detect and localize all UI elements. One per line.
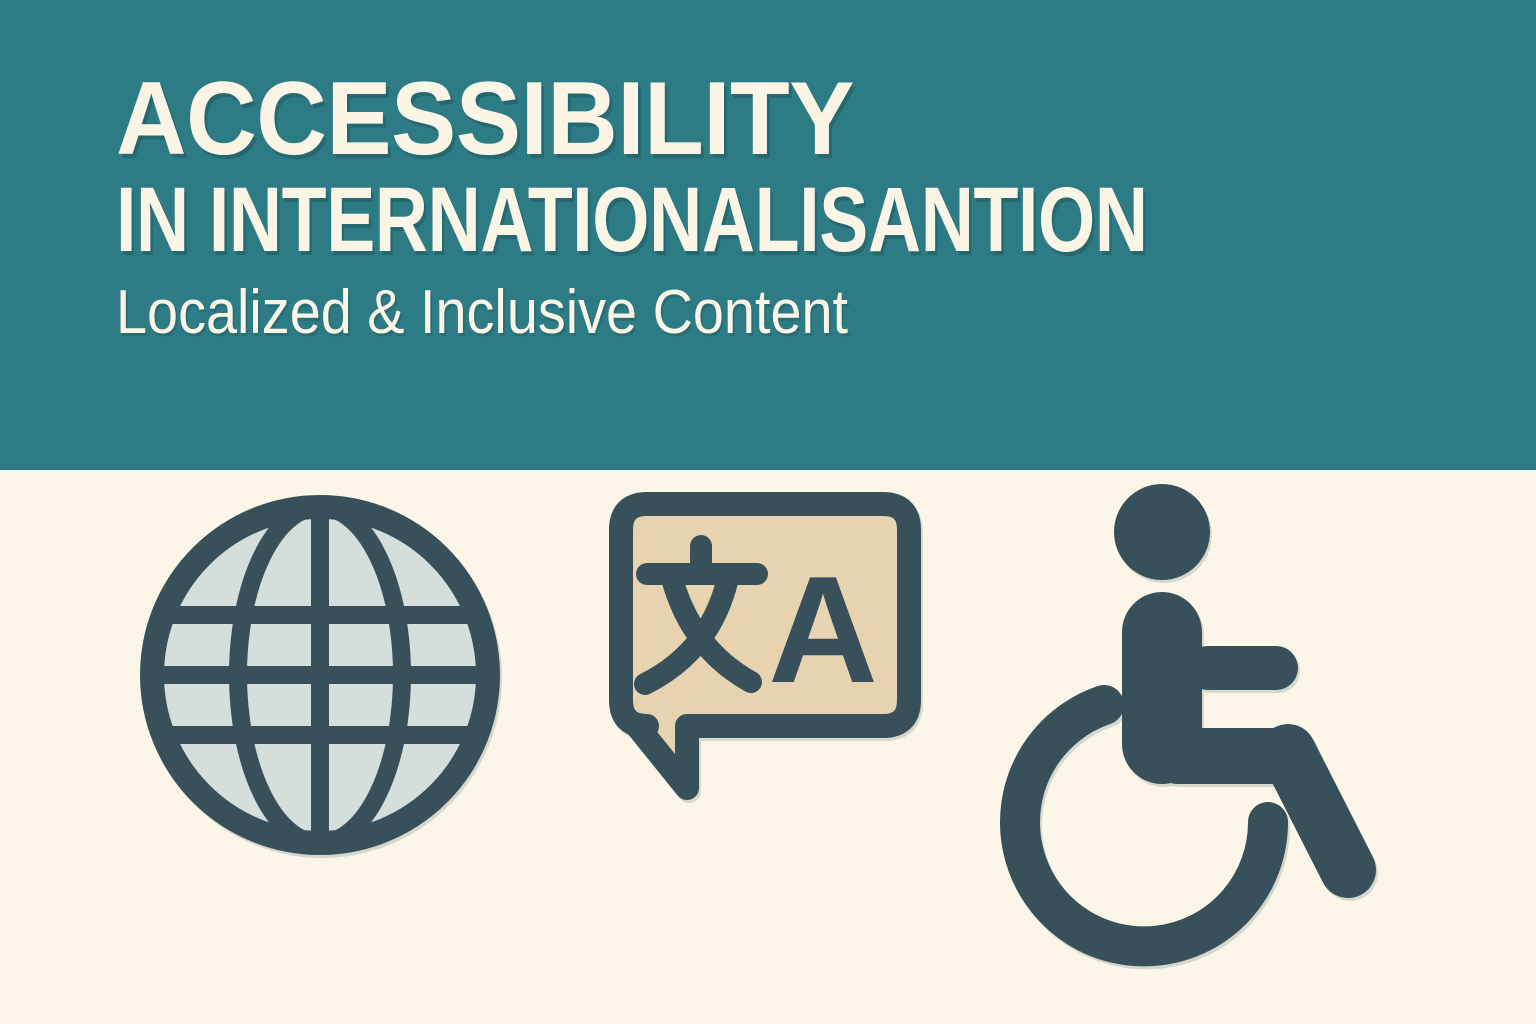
page-title-line-1: ACCESSIBILITY [116,70,1432,170]
wheelchair-accessibility-icon-slot [1000,470,1420,1024]
globe-icon [120,470,520,890]
wheelchair-leg [1288,752,1348,870]
icon-row: A [0,470,1536,1024]
header-band: ACCESSIBILITY IN INTERNATIONALISANTION L… [0,0,1536,470]
wheelchair-head [1114,484,1210,580]
title-block: ACCESSIBILITY IN INTERNATIONALISANTION L… [116,70,1516,345]
latin-glyph-a: A [768,545,878,715]
page-title-line-2: IN INTERNATIONALISANTION [116,176,1236,264]
poster-canvas: ACCESSIBILITY IN INTERNATIONALISANTION L… [0,0,1536,1024]
wheelchair-accessibility-icon [1000,470,1420,930]
wheelchair-arm [1186,646,1298,690]
page-subtitle: Localized & Inclusive Content [116,280,1376,345]
translate-bubble-icon-slot: A [575,470,955,1024]
translate-bubble-icon: A [575,470,955,870]
globe-icon-slot [120,470,600,1024]
